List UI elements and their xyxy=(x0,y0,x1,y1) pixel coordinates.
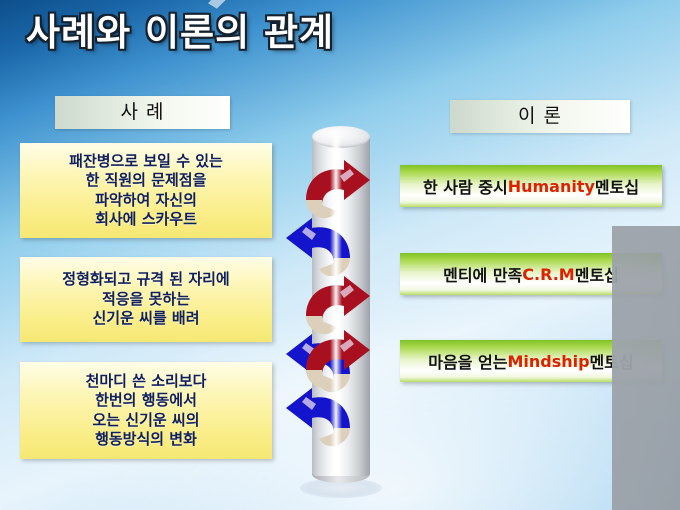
case-box-3[interactable]: 천마디 쓴 소리보다 한번의 행동에서 오는 신기운 씨의 행동방식의 변화 xyxy=(20,362,272,459)
theory-box-2[interactable]: 멘티에 만족 C.R.M 멘토십 xyxy=(400,253,662,295)
theory-box-1-suffix: 멘토십 xyxy=(595,174,639,198)
slide-title: 사례와 이론의 관계 xyxy=(26,2,334,56)
case-box-1[interactable]: 패잔병으로 보일 수 있는 한 직원의 문제점을 파악하여 자신의 회사에 스카… xyxy=(20,143,272,238)
theory-box-1-highlight: Humanity xyxy=(508,177,595,196)
case-box-3-line-2: 한번의 행동에서 xyxy=(86,391,207,411)
case-box-2-line-2: 적응을 못하는 xyxy=(62,290,229,310)
center-pillar-group xyxy=(300,126,382,486)
case-box-2[interactable]: 정형화되고 규격 된 자리에 적응을 못하는 신기운 씨를 배려 xyxy=(20,257,272,342)
case-box-1-line-4: 회사에 스카우트 xyxy=(69,210,223,230)
case-box-2-line-3: 신기운 씨를 배려 xyxy=(62,309,229,329)
theory-box-2-suffix: 멘토십 xyxy=(575,262,619,286)
theory-box-3-highlight: Mindship xyxy=(507,352,589,371)
column-header-theory: 이 론 xyxy=(450,100,630,133)
theory-box-2-highlight: C.R.M xyxy=(522,265,574,284)
case-box-3-line-1: 천마디 쓴 소리보다 xyxy=(86,372,207,392)
column-header-cases: 사 례 xyxy=(55,96,230,129)
theory-box-1-prefix: 한 사람 중시 xyxy=(423,174,508,198)
theory-box-3-suffix: 멘토십 xyxy=(590,349,634,373)
case-box-1-line-1: 패잔병으로 보일 수 있는 xyxy=(69,152,223,172)
theory-box-3-prefix: 마음을 얻는 xyxy=(428,349,507,373)
theory-box-2-prefix: 멘티에 만족 xyxy=(443,262,522,286)
case-box-1-line-3: 파악하여 자신의 xyxy=(69,191,223,211)
theory-box-3[interactable]: 마음을 얻는 Mindship 멘토십 xyxy=(400,340,662,382)
case-box-1-line-2: 한 직원의 문제점을 xyxy=(69,171,223,191)
case-box-3-line-3: 오는 신기운 씨의 xyxy=(86,411,207,431)
slide-canvas: 사례와 이론의 관계 사 례 이 론 패잔병으로 보일 수 있는 한 직원의 문… xyxy=(0,0,680,510)
case-box-3-line-4: 행동방식의 변화 xyxy=(86,430,207,450)
case-box-2-line-1: 정형화되고 규격 된 자리에 xyxy=(62,270,229,290)
pillar-specular-highlight xyxy=(330,136,342,476)
theory-box-1[interactable]: 한 사람 중시 Humanity 멘토십 xyxy=(400,165,662,207)
